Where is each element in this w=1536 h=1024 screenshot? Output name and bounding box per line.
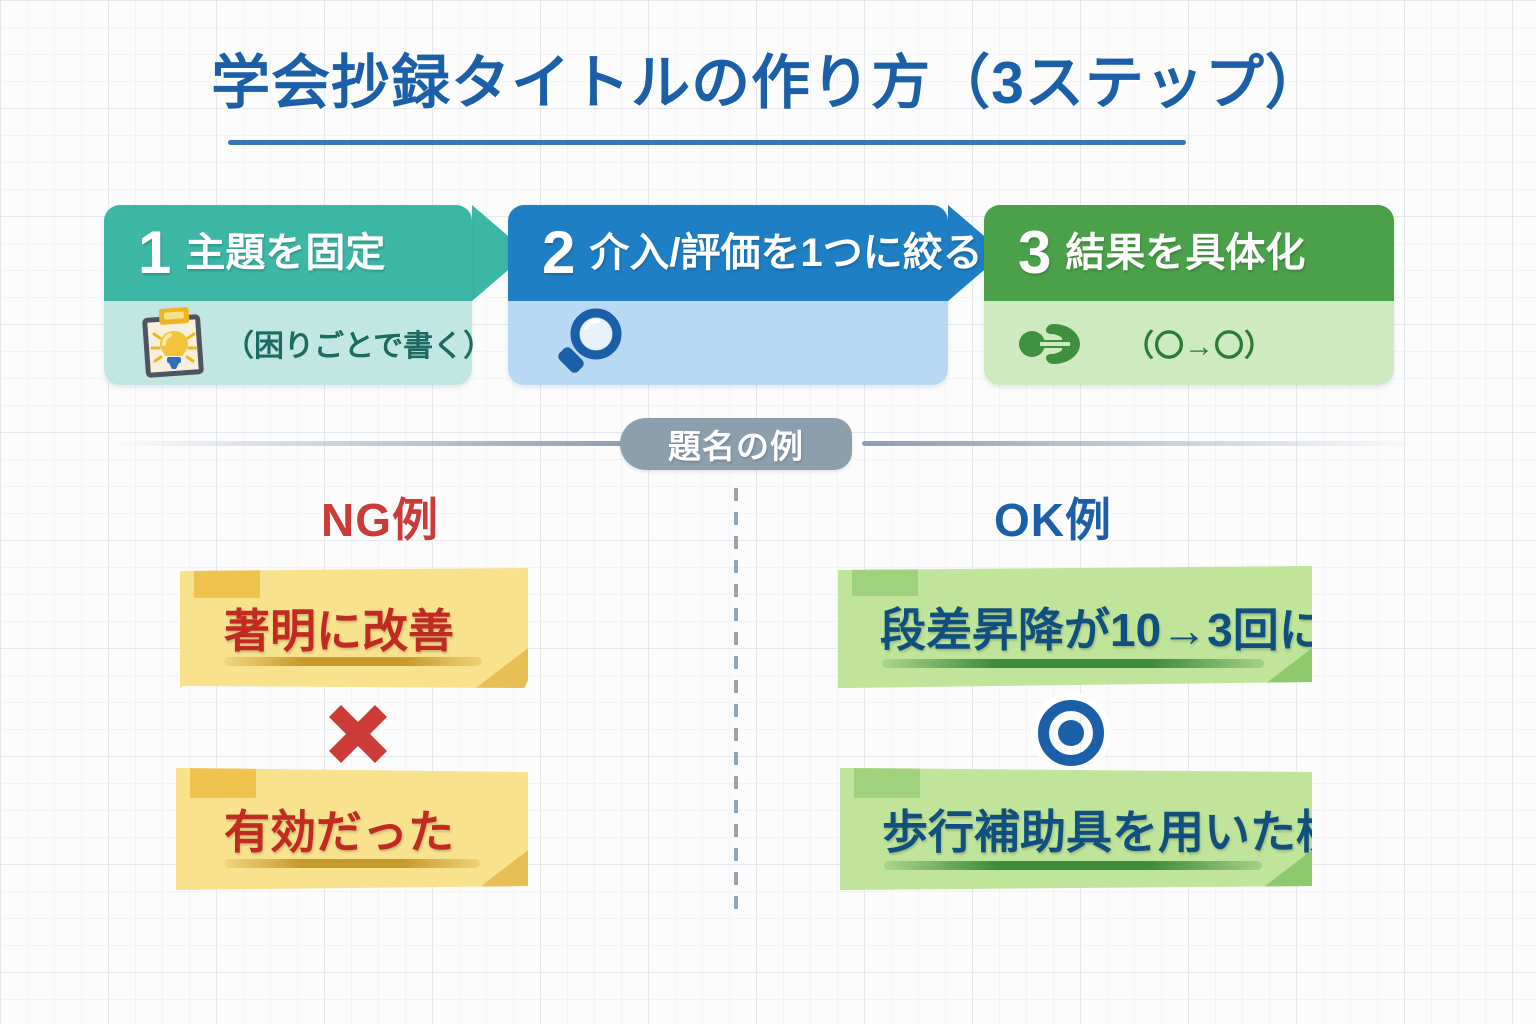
step-card-1[interactable]: 1 主題を固定 [104, 205, 472, 385]
step-subrow-3: （〇→〇） [984, 301, 1394, 385]
note-fold-corner [476, 648, 528, 688]
step-number-2: 2 [542, 223, 575, 283]
step-header-3: 3 結果を具体化 [984, 205, 1394, 301]
double-circle-icon [1038, 700, 1104, 766]
section-label-pill: 題名の例 [620, 418, 852, 470]
step-number-3: 3 [1018, 223, 1051, 283]
note-tape [854, 766, 920, 798]
note-underline [882, 659, 1264, 668]
step-subrow-1: （困りごとで書く） [104, 301, 472, 385]
step-subrow-2 [508, 301, 948, 385]
note-tape [190, 766, 256, 798]
infographic-canvas: 学会抄録タイトルの作り方（3ステップ） 1 主題を固定 [0, 0, 1536, 1024]
page-title: 学会抄録タイトルの作り方（3ステップ） [211, 52, 1325, 116]
page-title-wrap: 学会抄録タイトルの作り方（3ステップ） [0, 52, 1536, 116]
steps-row: 1 主題を固定 [104, 205, 1394, 385]
step-label-3: 結果を具体化 [1065, 233, 1305, 273]
step-sub-1: （困りごとで書く） [224, 321, 493, 365]
ng-column-heading: NG例 [321, 484, 439, 550]
note-tape [852, 564, 918, 596]
double-circle-inner [1058, 720, 1084, 746]
ok-note-2-text: 歩行補助具を用いた検討 [882, 796, 1388, 862]
step-label-1: 主題を固定 [185, 233, 385, 273]
ng-note-2-text: 有効だった [224, 796, 454, 862]
step-label-2: 介入/評価を1つに絞る [589, 233, 982, 273]
ng-note-1-text: 著明に改善 [224, 595, 454, 661]
step-card-2[interactable]: 2 介入/評価を1つに絞る [508, 205, 948, 385]
clipboard-lightbulb-icon [136, 304, 214, 382]
note-tape [194, 566, 260, 598]
section-label-text: 題名の例 [668, 420, 804, 468]
step-header-2: 2 介入/評価を1つに絞る [508, 205, 948, 301]
arrow-to-target-icon [1018, 316, 1114, 370]
step-header-1: 1 主題を固定 [104, 205, 472, 301]
ok-column-heading: OK例 [994, 484, 1112, 550]
note-fold-corner [476, 850, 528, 890]
ok-note-1-text: 段差昇降が10→3回に改善 [880, 594, 1417, 660]
title-underline [228, 140, 1186, 145]
step-card-3[interactable]: 3 結果を具体化 （〇→〇） [984, 205, 1394, 385]
section-divider-line-left [110, 441, 630, 446]
step-number-1: 1 [138, 223, 171, 283]
cross-mark-icon [322, 698, 394, 770]
ok-note-1[interactable]: 段差昇降が10→3回に改善 [838, 566, 1312, 688]
ok-note-2[interactable]: 歩行補助具を用いた検討 [840, 768, 1312, 890]
section-divider-line-right [862, 441, 1422, 446]
note-underline [884, 861, 1262, 870]
ng-note-1[interactable]: 著明に改善 [180, 568, 528, 688]
column-divider [734, 488, 738, 920]
step-sub-3: （〇→〇） [1124, 321, 1274, 365]
magnifier-icon [552, 306, 626, 380]
ng-note-2[interactable]: 有効だった [176, 768, 528, 890]
